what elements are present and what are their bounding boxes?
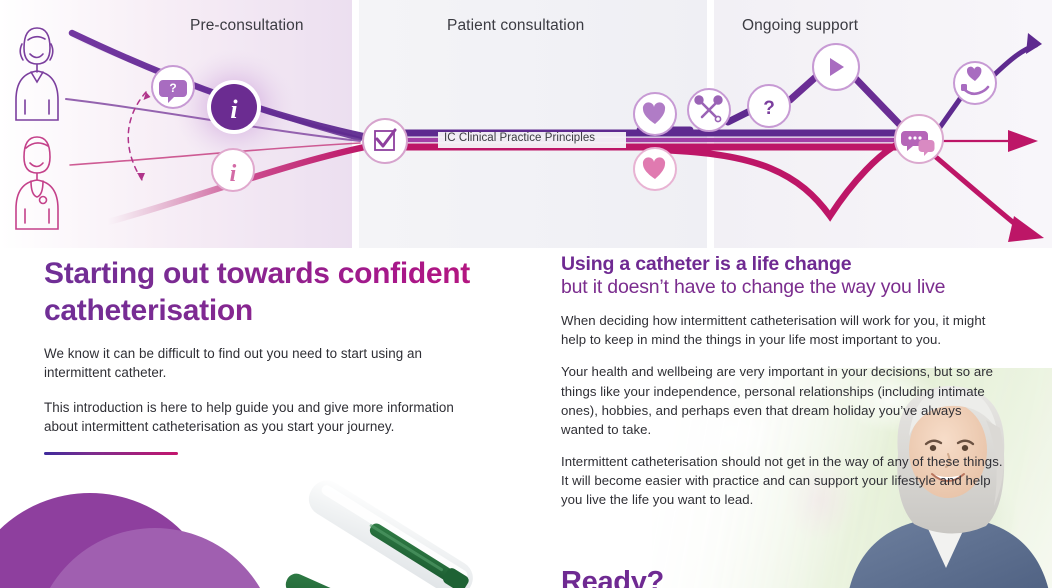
right-paragraph-3: Intermittent catheterisation should not … — [561, 452, 1007, 509]
node-care-hand — [954, 62, 996, 104]
node-heart-pink — [634, 148, 676, 190]
svg-text:?: ? — [169, 81, 176, 95]
purple-circle-decoration — [0, 478, 280, 588]
node-heart-purple — [634, 93, 676, 135]
node-info-primary: i — [207, 80, 261, 134]
svg-text:?: ? — [763, 98, 775, 119]
svg-text:i: i — [230, 161, 237, 187]
section-subtitle: Using a catheter is a life change but it… — [561, 253, 1007, 300]
node-info-secondary: i — [212, 149, 254, 191]
journey-graphic: ? i i — [0, 0, 1052, 248]
node-tools — [688, 89, 730, 131]
catheter-product-photo — [270, 468, 500, 588]
gradient-divider — [44, 452, 178, 455]
node-question-bubble: ? — [152, 66, 194, 108]
node-play — [813, 44, 859, 90]
svg-text:i: i — [230, 95, 238, 124]
left-paragraph-1: We know it can be difficult to find out … — [44, 344, 474, 382]
right-text-column: Using a catheter is a life change but it… — [561, 253, 1007, 522]
left-paragraph-2: This introduction is here to help guide … — [44, 398, 474, 436]
ready-heading: Ready? — [561, 566, 664, 588]
subtitle-line-2: but it doesn’t have to change the way yo… — [561, 276, 1007, 300]
right-paragraph-1: When deciding how intermittent catheteri… — [561, 311, 1007, 349]
subtitle-line-1: Using a catheter is a life change — [561, 253, 1007, 276]
left-text-column: Starting out towards confident catheteri… — [44, 256, 474, 455]
node-chat — [895, 115, 943, 163]
page-root: ? i i — [0, 0, 1052, 588]
patient-journey-diagram: ? i i — [0, 0, 1052, 248]
node-checklist — [363, 119, 407, 163]
content-area: Starting out towards confident catheteri… — [0, 248, 1052, 588]
node-question-round: ? — [748, 85, 790, 127]
ic-clinical-practice-principles-label: IC Clinical Practice Principles — [444, 132, 595, 144]
page-title: Starting out towards confident catheteri… — [44, 256, 474, 330]
right-paragraph-2: Your health and wellbeing are very impor… — [561, 362, 1007, 439]
